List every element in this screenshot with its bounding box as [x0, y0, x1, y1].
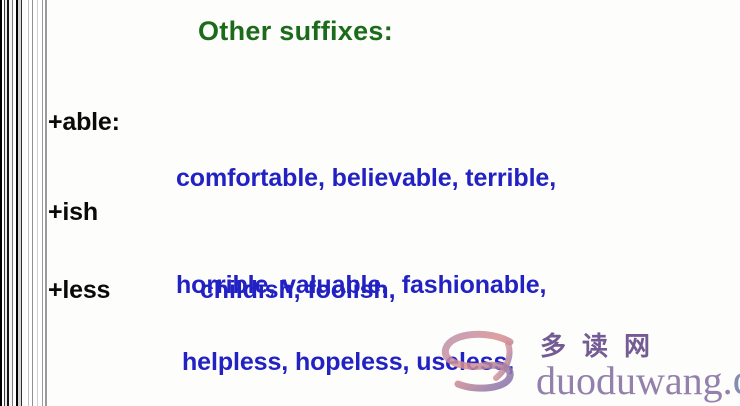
slide-canvas: Other suffixes: +able: comfortable, beli…	[0, 0, 740, 406]
stripe-band-edge	[45, 0, 47, 406]
suffix-label-ish: +ish	[48, 198, 178, 227]
word-line: comfortable, believable, terrible,	[176, 161, 556, 197]
word-group-less: helpless, hopeless, useless, careless,	[182, 274, 514, 406]
word-line: helpless, hopeless, useless,	[182, 345, 514, 381]
suffix-label-less: +less	[48, 276, 178, 305]
suffix-label-able: +able:	[48, 108, 178, 137]
slide-content: Other suffixes: +able: comfortable, beli…	[48, 0, 740, 406]
page-title: Other suffixes:	[198, 16, 393, 47]
suffix-row-less: +less helpless, hopeless, useless, carel…	[48, 276, 514, 406]
